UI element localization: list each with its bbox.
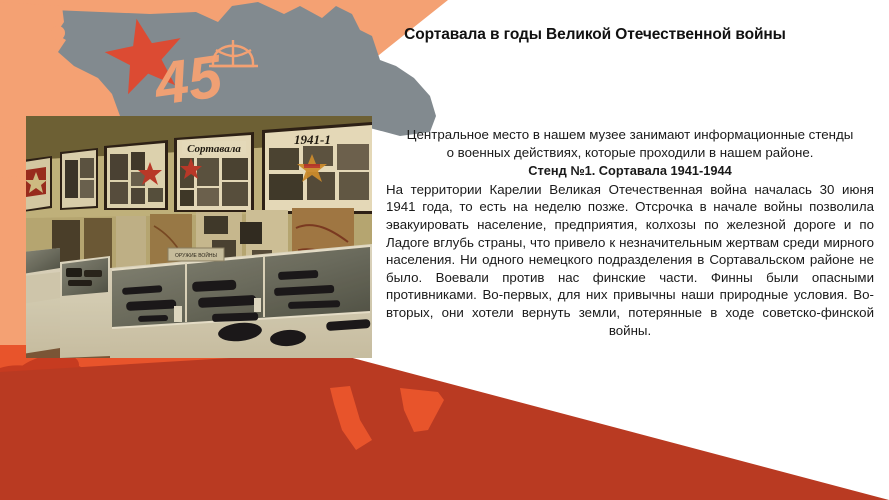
numeral-45: 45 bbox=[149, 42, 227, 118]
salmon-overlay-dot bbox=[51, 26, 65, 40]
soldier-silhouette-icon bbox=[0, 347, 110, 500]
accent-mark-b bbox=[400, 388, 444, 432]
red-star-icon bbox=[99, 11, 189, 98]
museum-photo-image: Сортавала 1941-1 bbox=[26, 116, 372, 358]
accent-mark-a bbox=[330, 386, 372, 450]
body-paragraph: На территории Карелии Великая Отечествен… bbox=[386, 181, 874, 339]
body-text-block: Центральное место в нашем музее занимают… bbox=[386, 126, 874, 339]
slide-title: Сортавала в годы Великой Отечественной в… bbox=[330, 26, 860, 45]
museum-photo: Сортавала 1941-1 bbox=[26, 116, 372, 358]
museum-photo-svg: Сортавала 1941-1 bbox=[26, 116, 372, 358]
helmet-wireframe-icon bbox=[209, 40, 258, 66]
orange-red-field bbox=[0, 345, 300, 500]
salmon-overlay-wedge bbox=[0, 2, 66, 60]
orange-red-field-2 bbox=[0, 360, 330, 500]
slide-canvas: 45 bbox=[0, 0, 889, 500]
intro-line-2: о военных действиях, которые проходили в… bbox=[386, 144, 874, 162]
intro-line-1: Центральное место в нашем музее занимают… bbox=[386, 126, 874, 144]
stand-heading: Стенд №1. Сортавала 1941-1944 bbox=[386, 162, 874, 180]
star-burst-icon bbox=[84, 450, 148, 500]
brick-red-band bbox=[0, 352, 889, 500]
